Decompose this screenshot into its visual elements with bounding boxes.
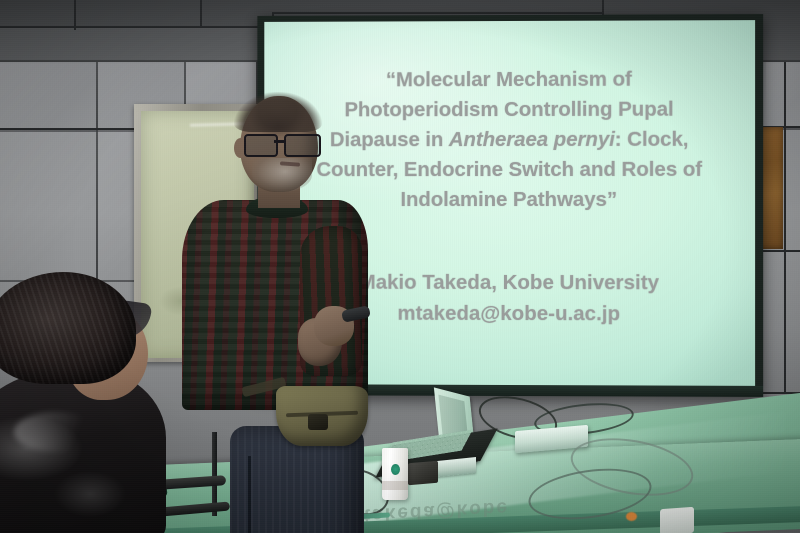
audience-member-seated <box>0 272 176 533</box>
wall-panel-left-mid <box>0 130 98 282</box>
small-white-object <box>660 507 694 533</box>
slide-author-name: Makio Takeda, Kobe University <box>359 267 659 298</box>
paper-cup[interactable] <box>382 448 408 500</box>
wall-seam <box>784 62 786 392</box>
presenter-glasses <box>244 134 318 154</box>
camera[interactable] <box>408 461 438 486</box>
slide-author-email: mtakeda@kobe-u.ac.jp <box>359 298 659 330</box>
wall-seam <box>272 12 604 14</box>
audience-hair <box>0 272 136 384</box>
small-orange-object <box>626 512 637 521</box>
presenter-trouser-seam <box>248 456 251 533</box>
wall-seam <box>0 26 276 28</box>
presenter-hair <box>234 92 322 132</box>
glasses-lens-left <box>244 134 278 157</box>
wall-seam <box>200 0 202 28</box>
bag-buckle <box>308 414 328 430</box>
presentation-photo-scene: “Molecular Mechanism of Photoperiodism C… <box>0 0 800 533</box>
slide-species-name: Antheraea pernyi <box>449 128 615 151</box>
ceiling-step-left <box>0 26 272 62</box>
presenter-waist-bag <box>276 386 368 446</box>
slide-title-line-1: “Molecular Mechanism of <box>295 64 725 95</box>
slide-author-block: Makio Takeda, Kobe University mtakeda@ko… <box>359 267 659 330</box>
glasses-lens-right <box>284 134 321 157</box>
cup-logo <box>391 464 400 475</box>
slide-title-line-3-post: : Clock, <box>615 128 689 151</box>
jacket-highlight <box>14 412 100 452</box>
cup-band <box>382 481 408 490</box>
wall-panel-left-upper <box>0 62 98 132</box>
wall-panel-right-upper <box>766 62 800 130</box>
